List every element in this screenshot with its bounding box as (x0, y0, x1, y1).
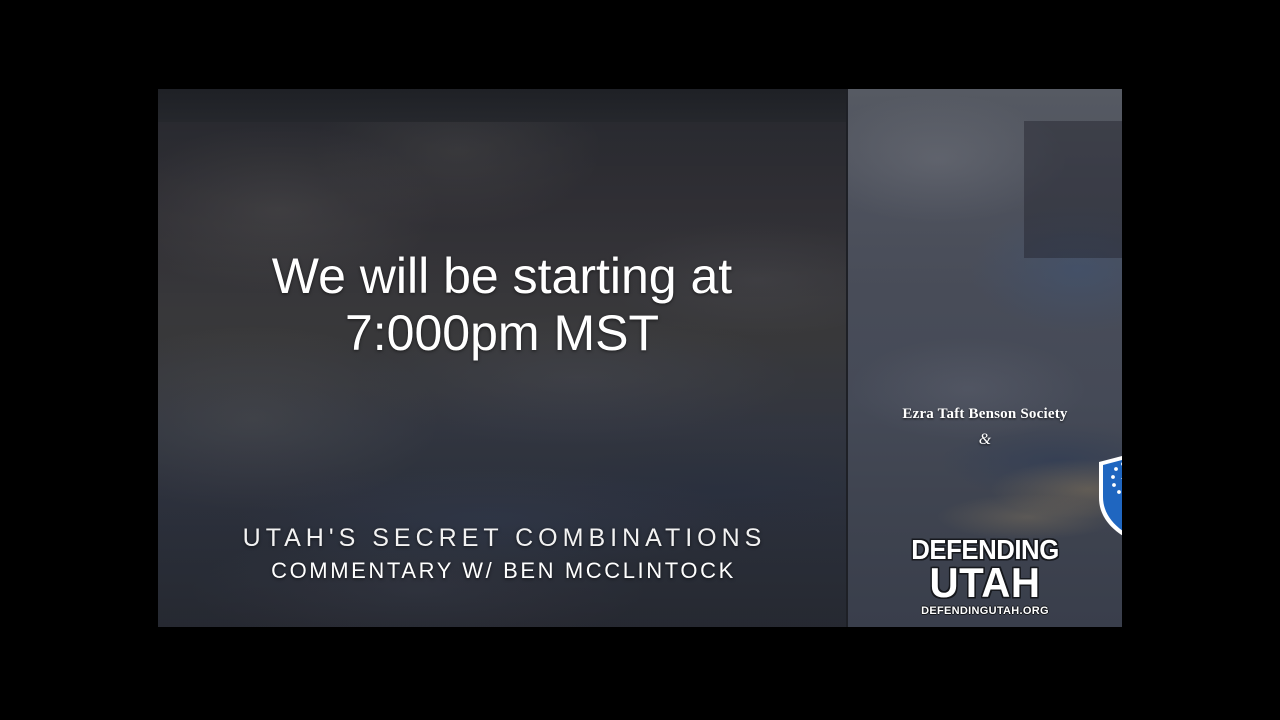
wordmark-utah: UTAH (853, 564, 1116, 602)
video-player-frame: We will be starting at 7:000pm MST UTAH'… (158, 89, 1122, 627)
headline-line-2: 7:000pm MST (158, 305, 846, 362)
show-title: UTAH'S SECRET COMBINATIONS (158, 524, 846, 553)
headline-line-1: We will be starting at (158, 248, 846, 305)
show-title-block: UTAH'S SECRET COMBINATIONS COMMENTARY W/… (158, 524, 846, 584)
show-subtitle: COMMENTARY W/ BEN MCCLINTOCK (158, 558, 846, 584)
ampersand-separator: & (848, 431, 1122, 449)
society-name: Ezra Taft Benson Society (848, 406, 1122, 423)
defending-utah-logo-block: Ezra Taft Benson Society & (848, 89, 1122, 627)
shield-icon (1095, 451, 1122, 545)
screen: We will be starting at 7:000pm MST UTAH'… (0, 0, 1280, 720)
starting-soon-headline: We will be starting at 7:000pm MST (158, 248, 846, 362)
wordmark-block: DEFENDING UTAH DEFENDINGUTAH.ORG (848, 537, 1122, 617)
wordmark-url: DEFENDINGUTAH.ORG (848, 605, 1122, 617)
